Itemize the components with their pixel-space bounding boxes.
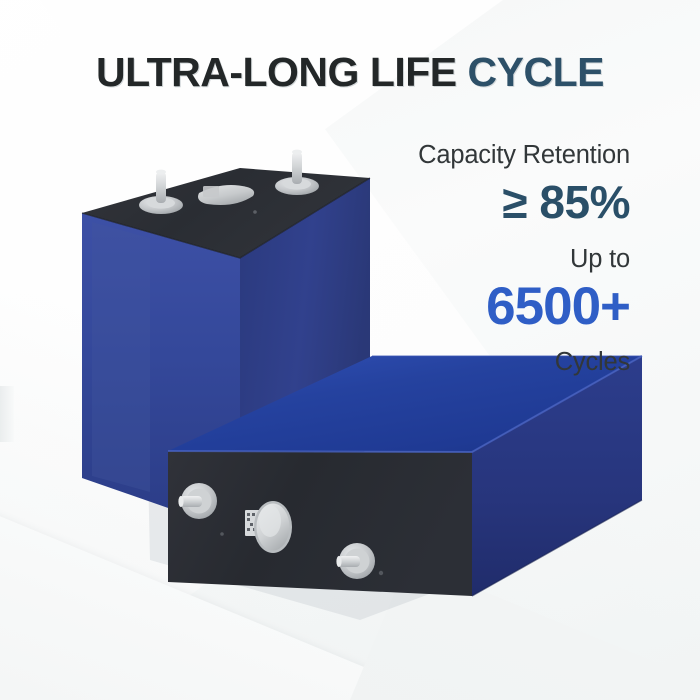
page-title-accent: CYCLE <box>468 49 604 95</box>
product-feature-card: ULTRA-LONG LIFE CYCLE <box>0 0 700 700</box>
capacity-retention-label: Capacity Retention <box>330 140 630 170</box>
page-title: ULTRA-LONG LIFE CYCLE <box>0 52 700 93</box>
up-to-label: Up to <box>330 244 630 274</box>
page-title-primary: ULTRA-LONG LIFE <box>96 49 468 95</box>
capacity-retention-value: ≥ 85% <box>330 177 630 229</box>
cycle-count-value: 6500+ <box>330 278 630 335</box>
spec-block: Capacity Retention ≥ 85% Up to 6500+ Cyc… <box>330 140 630 377</box>
cycles-label: Cycles <box>330 347 630 377</box>
